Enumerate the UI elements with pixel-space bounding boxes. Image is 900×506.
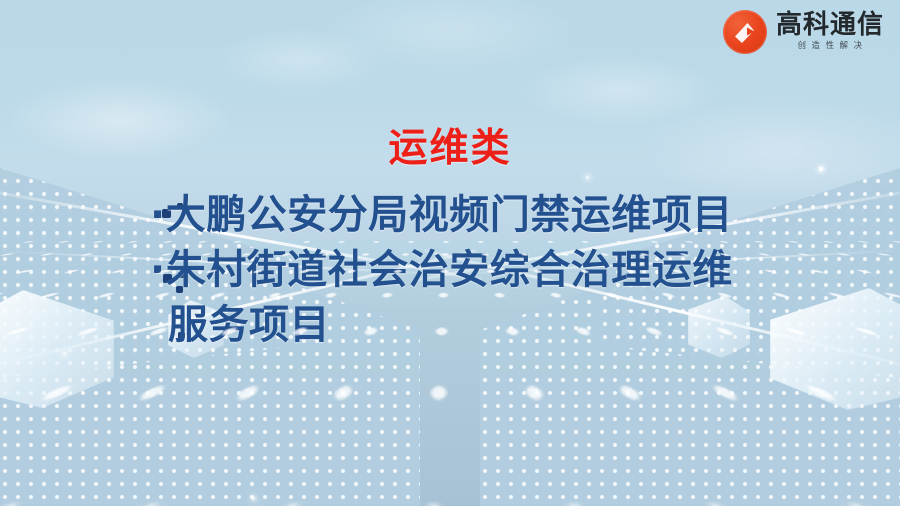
guide-line-right-top <box>418 186 900 281</box>
wall-panel-left-upper <box>0 150 300 380</box>
wall-panel-right-lower <box>480 180 900 506</box>
logo-tagline: 创造性解决 <box>792 41 867 51</box>
guide-line-right-mid <box>431 250 900 276</box>
wall-panel-left-lower <box>0 180 420 506</box>
sparkle-dot <box>586 176 589 179</box>
guide-line-left-top <box>0 186 482 281</box>
guide-line-left-bottom <box>0 249 476 375</box>
wall-dot-texture <box>600 150 900 380</box>
slide-headline: 运维类 <box>0 129 900 168</box>
slide-content: 运维类 ·大鹏公安分局视频门禁运维项目 ·朱村街道社会治安综合治理运维 服务项目 <box>0 0 900 506</box>
guide-line-right-bottom <box>424 249 900 375</box>
bullet-item-1: ·大鹏公安分局视频门禁运维项目 <box>150 188 850 243</box>
hexagon-glow-right-small <box>688 296 750 358</box>
floor-horizon-fade <box>0 240 900 310</box>
hexagon-glow-left-small <box>168 300 224 358</box>
company-logo: 高科通信 创造性解决 <box>723 10 884 54</box>
slide-canvas: 高科通信 创造性解决 运维类 ·大鹏公安分局视频门禁运维项目 ·朱村街道社会治安… <box>0 0 900 506</box>
hexagon-glow-right <box>770 288 900 410</box>
node-accent <box>178 272 184 278</box>
sparkle-dot <box>63 352 66 355</box>
wall-panel-right-upper <box>600 150 900 380</box>
logo-wordmark: 高科通信 创造性解决 <box>776 12 884 51</box>
node-accent <box>163 274 172 283</box>
node-accent <box>178 332 185 339</box>
bullet-item-2-continuation: 服务项目 <box>150 298 850 353</box>
node-accent <box>162 209 171 218</box>
bullet-list: ·大鹏公安分局视频门禁运维项目 ·朱村街道社会治安综合治理运维 服务项目 <box>150 188 850 353</box>
wall-dot-texture <box>0 150 300 380</box>
wall-dot-texture <box>480 180 900 506</box>
node-accent <box>177 203 183 209</box>
hexagon-glow-left <box>0 290 114 408</box>
logo-company-name: 高科通信 <box>776 12 884 39</box>
bullet-item-2: ·朱村街道社会治安综合治理运维 <box>150 243 850 298</box>
sparkle-dot <box>819 167 823 171</box>
perspective-floor <box>0 240 900 506</box>
gaoke-arrow-circle-logo-icon <box>723 10 767 54</box>
wall-dot-texture <box>0 180 420 506</box>
sparkle-dot <box>252 497 255 500</box>
guide-line-left-mid <box>0 250 469 276</box>
node-accent <box>176 286 183 293</box>
